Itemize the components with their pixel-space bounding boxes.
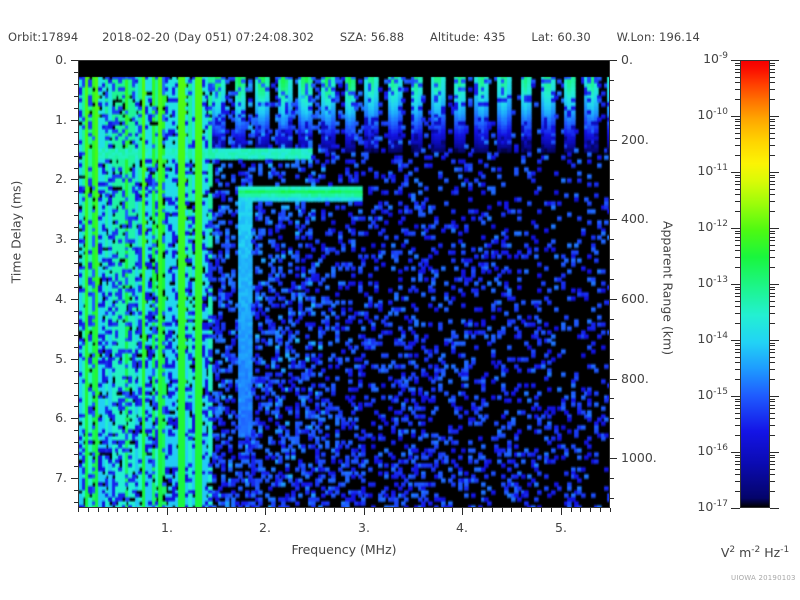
y-left-tick bbox=[74, 490, 78, 491]
colorbar-minor-tick bbox=[770, 343, 775, 344]
y-left-tick bbox=[74, 144, 78, 145]
colorbar-minor-tick bbox=[770, 301, 775, 302]
colorbar-minor-tick bbox=[735, 345, 740, 346]
colorbar-minor-tick bbox=[735, 343, 740, 344]
colorbar-minor-tick bbox=[770, 352, 775, 353]
institution-watermark: UIOWA 20190103 bbox=[731, 574, 796, 582]
y-left-tick bbox=[74, 96, 78, 97]
colorbar-minor-tick bbox=[770, 155, 775, 156]
colorbar-major-tick bbox=[770, 340, 779, 341]
colorbar-ticklabel-6: 10-15 bbox=[0, 387, 728, 402]
colorbar-minor-tick bbox=[735, 138, 740, 139]
colorbar-minor-tick bbox=[735, 194, 740, 195]
y-left-tick bbox=[74, 251, 78, 252]
colorbar-minor-tick bbox=[735, 418, 740, 419]
colorbar-minor-tick bbox=[735, 464, 740, 465]
colorbar-minor-tick bbox=[770, 469, 775, 470]
colorbar-minor-tick bbox=[770, 379, 775, 380]
colorbar-major-tick bbox=[770, 452, 779, 453]
colorbar-minor-tick bbox=[770, 138, 775, 139]
header-orbit: Orbit:17894 bbox=[8, 30, 78, 44]
colorbar-major-tick bbox=[731, 284, 740, 285]
colorbar-major-tick bbox=[770, 508, 779, 509]
colorbar-minor-tick bbox=[770, 250, 775, 251]
colorbar-minor-tick bbox=[770, 457, 775, 458]
colorbar-minor-tick bbox=[770, 189, 775, 190]
colorbar-minor-tick bbox=[770, 128, 775, 129]
colorbar-minor-tick bbox=[735, 469, 740, 470]
y-left-tick bbox=[71, 299, 78, 300]
x-ticklabel-1: 2. bbox=[259, 520, 271, 535]
colorbar-minor-tick bbox=[770, 464, 775, 465]
colorbar-minor-tick bbox=[770, 177, 775, 178]
colorbar-minor-tick bbox=[735, 125, 740, 126]
colorbar-minor-tick bbox=[735, 121, 740, 122]
colorbar-minor-tick bbox=[770, 435, 775, 436]
colorbar-minor-tick bbox=[735, 72, 740, 73]
y-right-tick bbox=[610, 319, 614, 320]
colorbar-minor-tick bbox=[770, 357, 775, 358]
colorbar-major-tick bbox=[731, 396, 740, 397]
colorbar-minor-tick bbox=[770, 474, 775, 475]
y-left-ticklabel-7: 7. bbox=[55, 470, 67, 485]
colorbar-minor-tick bbox=[735, 323, 740, 324]
colorbar-major-tick bbox=[770, 284, 779, 285]
x-ticklabel-2: 3. bbox=[358, 520, 370, 535]
colorbar-minor-tick bbox=[770, 72, 775, 73]
y-right-tick bbox=[610, 140, 617, 141]
colorbar-major-tick bbox=[770, 396, 779, 397]
header-datetime: 2018-02-20 (Day 051) 07:24:08.302 bbox=[102, 30, 314, 44]
colorbar-minor-tick bbox=[735, 474, 740, 475]
colorbar-minor-tick bbox=[735, 119, 740, 120]
colorbar-major-tick bbox=[731, 452, 740, 453]
colorbar-minor-tick bbox=[770, 405, 775, 406]
colorbar-minor-tick bbox=[735, 457, 740, 458]
y-left-tick bbox=[71, 179, 78, 180]
colorbar-minor-tick bbox=[770, 82, 775, 83]
y-right-ticklabel-3: 600. bbox=[621, 291, 649, 306]
colorbar-minor-tick bbox=[735, 296, 740, 297]
y-left-tick bbox=[74, 156, 78, 157]
colorbar-minor-tick bbox=[770, 181, 775, 182]
colorbar-minor-tick bbox=[735, 133, 740, 134]
colorbar-minor-tick bbox=[735, 461, 740, 462]
x-ticklabel-4: 5. bbox=[555, 520, 567, 535]
y-right-tick bbox=[610, 160, 614, 161]
y-left-tick bbox=[74, 263, 78, 264]
colorbar-minor-tick bbox=[770, 491, 775, 492]
y-right-tick bbox=[610, 259, 614, 260]
colorbar-minor-tick bbox=[770, 233, 775, 234]
colorbar-minor-tick bbox=[770, 65, 775, 66]
y-right-tick bbox=[610, 359, 614, 360]
colorbar-minor-tick bbox=[770, 408, 775, 409]
colorbar-minor-tick bbox=[770, 296, 775, 297]
y-left-ticklabel-4: 4. bbox=[55, 291, 67, 306]
colorbar-minor-tick bbox=[735, 181, 740, 182]
x-axis-title: Frequency (MHz) bbox=[291, 542, 396, 557]
colorbar-major-tick bbox=[770, 228, 779, 229]
colorbar-minor-tick bbox=[770, 99, 775, 100]
colorbar-minor-tick bbox=[735, 362, 740, 363]
colorbar-major-tick bbox=[731, 340, 740, 341]
y-left-ticklabel-6: 6. bbox=[55, 410, 67, 425]
colorbar-minor-tick bbox=[770, 175, 775, 176]
colorbar-minor-tick bbox=[770, 69, 775, 70]
colorbar-minor-tick bbox=[770, 231, 775, 232]
colorbar-minor-tick bbox=[735, 313, 740, 314]
colorbar-minor-tick bbox=[735, 349, 740, 350]
colorbar-minor-tick bbox=[770, 401, 775, 402]
colorbar-minor-tick bbox=[770, 345, 775, 346]
y-left-ticklabel-5: 5. bbox=[55, 351, 67, 366]
colorbar-minor-tick bbox=[770, 240, 775, 241]
colorbar-minor-tick bbox=[735, 233, 740, 234]
colorbar-minor-tick bbox=[735, 65, 740, 66]
colorbar-minor-tick bbox=[735, 455, 740, 456]
colorbar-minor-tick bbox=[770, 145, 775, 146]
y-left-tick bbox=[71, 239, 78, 240]
colorbar-major-tick bbox=[731, 228, 740, 229]
colorbar-minor-tick bbox=[735, 401, 740, 402]
colorbar-minor-tick bbox=[735, 481, 740, 482]
y-left-tick bbox=[71, 418, 78, 419]
colorbar-ticklabel-8: 10-17 bbox=[0, 499, 728, 514]
colorbar-minor-tick bbox=[735, 293, 740, 294]
colorbar-minor-tick bbox=[770, 481, 775, 482]
colorbar-minor-tick bbox=[735, 250, 740, 251]
y-left-tick bbox=[74, 72, 78, 73]
colorbar-minor-tick bbox=[735, 99, 740, 100]
colorbar-minor-tick bbox=[735, 69, 740, 70]
colorbar-minor-tick bbox=[735, 89, 740, 90]
colorbar-minor-tick bbox=[735, 82, 740, 83]
colorbar-minor-tick bbox=[770, 184, 775, 185]
colorbar-ticklabel-2: 10-11 bbox=[0, 163, 728, 178]
y-right-tick bbox=[610, 418, 614, 419]
y-right-tick bbox=[610, 379, 617, 380]
colorbar-minor-tick bbox=[735, 231, 740, 232]
y-right-tick bbox=[610, 458, 617, 459]
y-left-tick bbox=[74, 132, 78, 133]
y-left-tick bbox=[74, 347, 78, 348]
colorbar-minor-tick bbox=[770, 418, 775, 419]
y-left-tick bbox=[74, 311, 78, 312]
colorbar-minor-tick bbox=[735, 399, 740, 400]
colorbar-minor-tick bbox=[770, 245, 775, 246]
colorbar-minor-tick bbox=[770, 413, 775, 414]
colorbar-major-tick bbox=[770, 60, 779, 61]
colorbar-minor-tick bbox=[735, 184, 740, 185]
colorbar-minor-tick bbox=[735, 413, 740, 414]
colorbar-minor-tick bbox=[735, 408, 740, 409]
y-right-tick bbox=[610, 199, 614, 200]
y-right-tick bbox=[610, 478, 614, 479]
colorbar-minor-tick bbox=[735, 267, 740, 268]
colorbar-minor-tick bbox=[770, 267, 775, 268]
colorbar-major-tick bbox=[770, 172, 779, 173]
y-right-ticklabel-4: 800. bbox=[621, 371, 649, 386]
y-left-tick bbox=[74, 323, 78, 324]
colorbar-minor-tick bbox=[770, 362, 775, 363]
colorbar-minor-tick bbox=[770, 133, 775, 134]
colorbar-minor-tick bbox=[770, 119, 775, 120]
colorbar-minor-tick bbox=[735, 379, 740, 380]
y-left-tick bbox=[74, 203, 78, 204]
colorbar-minor-tick bbox=[735, 369, 740, 370]
colorbar-minor-tick bbox=[735, 211, 740, 212]
y-left-tick bbox=[74, 430, 78, 431]
y-right-tick bbox=[610, 179, 614, 180]
colorbar-minor-tick bbox=[735, 155, 740, 156]
colorbar-minor-tick bbox=[770, 63, 775, 64]
colorbar-minor-tick bbox=[735, 128, 740, 129]
colorbar bbox=[740, 60, 770, 508]
y-right-tick bbox=[610, 239, 614, 240]
header-info-line: Orbit:17894 2018-02-20 (Day 051) 07:24:0… bbox=[0, 30, 800, 44]
colorbar-minor-tick bbox=[735, 435, 740, 436]
colorbar-minor-tick bbox=[770, 237, 775, 238]
colorbar-minor-tick bbox=[735, 491, 740, 492]
colorbar-ticklabel-7: 10-16 bbox=[0, 443, 728, 458]
y-left-tick bbox=[74, 406, 78, 407]
colorbar-minor-tick bbox=[770, 194, 775, 195]
colorbar-major-tick bbox=[770, 116, 779, 117]
colorbar-unit-label: V2 m-2 Hz-1 bbox=[721, 545, 789, 560]
y-left-tick bbox=[74, 466, 78, 467]
colorbar-minor-tick bbox=[735, 289, 740, 290]
y-right-tick bbox=[610, 80, 614, 81]
colorbar-minor-tick bbox=[735, 306, 740, 307]
header-west-longitude: W.Lon: 196.14 bbox=[617, 30, 700, 44]
colorbar-major-tick bbox=[731, 172, 740, 173]
header-latitude: Lat: 60.30 bbox=[531, 30, 590, 44]
y-left-tick bbox=[74, 84, 78, 85]
colorbar-ticklabel-5: 10-14 bbox=[0, 331, 728, 346]
colorbar-major-tick bbox=[731, 116, 740, 117]
colorbar-minor-tick bbox=[770, 369, 775, 370]
y-right-tick bbox=[610, 438, 614, 439]
y-right-tick bbox=[610, 100, 614, 101]
colorbar-minor-tick bbox=[770, 77, 775, 78]
colorbar-minor-tick bbox=[735, 245, 740, 246]
colorbar-minor-tick bbox=[735, 175, 740, 176]
colorbar-minor-tick bbox=[735, 257, 740, 258]
x-ticklabel-3: 4. bbox=[456, 520, 468, 535]
colorbar-minor-tick bbox=[770, 349, 775, 350]
header-sza: SZA: 56.88 bbox=[340, 30, 404, 44]
colorbar-ticklabel-4: 10-13 bbox=[0, 275, 728, 290]
colorbar-minor-tick bbox=[770, 425, 775, 426]
colorbar-minor-tick bbox=[770, 121, 775, 122]
colorbar-minor-tick bbox=[735, 405, 740, 406]
x-ticklabel-0: 1. bbox=[161, 520, 173, 535]
colorbar-minor-tick bbox=[735, 63, 740, 64]
colorbar-ticklabel-1: 10-10 bbox=[0, 107, 728, 122]
colorbar-minor-tick bbox=[735, 201, 740, 202]
colorbar-major-tick bbox=[731, 508, 740, 509]
colorbar-minor-tick bbox=[770, 461, 775, 462]
colorbar-minor-tick bbox=[735, 425, 740, 426]
y-left-tick bbox=[74, 383, 78, 384]
colorbar-minor-tick bbox=[770, 455, 775, 456]
colorbar-minor-tick bbox=[770, 287, 775, 288]
colorbar-minor-tick bbox=[735, 237, 740, 238]
colorbar-minor-tick bbox=[735, 352, 740, 353]
colorbar-minor-tick bbox=[770, 125, 775, 126]
colorbar-major-tick bbox=[731, 60, 740, 61]
colorbar-minor-tick bbox=[735, 287, 740, 288]
colorbar-minor-tick bbox=[770, 257, 775, 258]
header-altitude: Altitude: 435 bbox=[430, 30, 506, 44]
colorbar-ticklabel-0: 10-9 bbox=[0, 51, 728, 66]
colorbar-minor-tick bbox=[735, 177, 740, 178]
colorbar-minor-tick bbox=[770, 289, 775, 290]
colorbar-minor-tick bbox=[770, 313, 775, 314]
y-left-tick bbox=[74, 215, 78, 216]
colorbar-minor-tick bbox=[770, 293, 775, 294]
colorbar-ticklabel-3: 10-12 bbox=[0, 219, 728, 234]
colorbar-minor-tick bbox=[735, 189, 740, 190]
ionogram-figure: Orbit:17894 2018-02-20 (Day 051) 07:24:0… bbox=[0, 0, 800, 600]
y-left-tick bbox=[74, 191, 78, 192]
y-left-tick bbox=[74, 371, 78, 372]
colorbar-minor-tick bbox=[735, 145, 740, 146]
y-right-ticklabel-1: 200. bbox=[621, 132, 649, 147]
colorbar-minor-tick bbox=[770, 211, 775, 212]
colorbar-minor-tick bbox=[770, 399, 775, 400]
colorbar-minor-tick bbox=[770, 323, 775, 324]
colorbar-minor-tick bbox=[770, 306, 775, 307]
colorbar-minor-tick bbox=[735, 301, 740, 302]
y-left-tick bbox=[71, 359, 78, 360]
colorbar-minor-tick bbox=[770, 89, 775, 90]
y-left-tick bbox=[71, 478, 78, 479]
y-right-tick bbox=[610, 299, 617, 300]
colorbar-minor-tick bbox=[770, 201, 775, 202]
colorbar-minor-tick bbox=[735, 357, 740, 358]
colorbar-minor-tick bbox=[735, 240, 740, 241]
colorbar-minor-tick bbox=[735, 77, 740, 78]
